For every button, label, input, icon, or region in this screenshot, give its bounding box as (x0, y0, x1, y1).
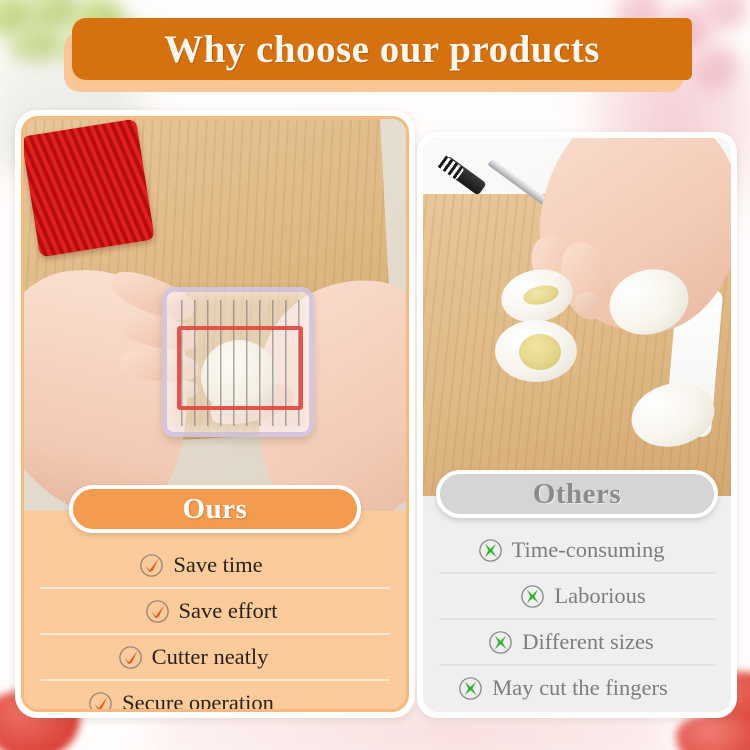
others-product-photo (423, 138, 731, 496)
ours-heading-pill: Ours (69, 485, 361, 533)
list-item-label: Save effort (179, 598, 278, 624)
egg-slicer-container (162, 287, 314, 437)
list-item-label: Time-consuming (512, 537, 665, 563)
check-circle-icon (118, 645, 143, 670)
red-slicer-tray-icon (24, 119, 155, 257)
others-feature-list: Time-consuming Laborious (423, 518, 731, 712)
list-item: Laborious (445, 574, 721, 618)
ours-card-inner: Ours Save time (21, 116, 409, 712)
list-item: Secure operation (21, 681, 356, 712)
check-circle-icon (88, 691, 113, 713)
list-item-label: Save time (173, 552, 262, 578)
list-item-label: Secure operation (122, 690, 274, 712)
list-item-label: Cutter neatly (152, 644, 269, 670)
others-heading-pill: Others (436, 470, 718, 518)
list-item-label: May cut the fingers (492, 675, 668, 701)
list-item: May cut the fingers (425, 666, 701, 710)
others-heading-wrap: Others (423, 470, 731, 518)
x-circle-icon (520, 584, 545, 609)
list-item: Save time (26, 543, 376, 587)
check-circle-icon (145, 599, 170, 624)
others-card: Others Time-consuming (417, 132, 737, 718)
check-circle-icon (139, 553, 164, 578)
list-item-label: Different sizes (522, 629, 653, 655)
x-circle-icon (458, 676, 483, 701)
others-heading-label: Others (533, 478, 621, 511)
list-item: Cutter neatly (21, 635, 368, 679)
banner-bar: Why choose our products (72, 18, 692, 80)
page-title: Why choose our products (164, 27, 600, 72)
x-circle-icon (478, 538, 503, 563)
list-item: Save effort (36, 589, 386, 633)
list-item: Different sizes (433, 620, 709, 664)
ours-heading-label: Ours (183, 493, 248, 526)
strawberry-icon (676, 714, 750, 750)
slicer-red-frame (177, 326, 303, 410)
ours-heading-wrap: Ours (24, 485, 406, 533)
ours-feature-list: Save time Save effort (24, 533, 406, 712)
ours-product-photo (24, 119, 406, 511)
infographic-canvas: Why choose our products (0, 0, 750, 750)
ours-card: Ours Save time (15, 110, 415, 718)
list-item-label: Laborious (554, 583, 645, 609)
page-title-banner: Why choose our products (64, 18, 692, 94)
egg-yolk (519, 334, 561, 370)
x-circle-icon (488, 630, 513, 655)
list-item: Time-consuming (433, 528, 709, 572)
others-card-inner: Others Time-consuming (423, 138, 731, 712)
